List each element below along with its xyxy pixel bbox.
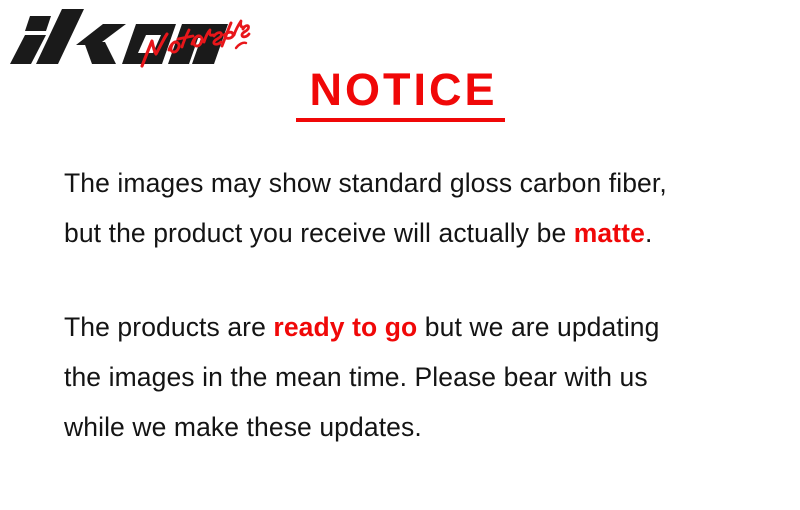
paragraph-2-line-1-text-before: The products are bbox=[64, 312, 273, 342]
paragraph-1-line-2-text-before: but the product you receive will actuall… bbox=[64, 218, 574, 248]
notice-paragraph-1: The images may show standard gloss carbo… bbox=[64, 158, 764, 258]
paragraph-2-line-1: The products are ready to go but we are … bbox=[64, 302, 764, 352]
notice-title: NOTICE bbox=[296, 64, 508, 116]
notice-body: The images may show standard gloss carbo… bbox=[64, 158, 764, 452]
paragraph-1-line-1: The images may show standard gloss carbo… bbox=[64, 158, 764, 208]
paragraph-2-line-2: the images in the mean time. Please bear… bbox=[64, 352, 764, 402]
ikon-motorsports-logo bbox=[6, 2, 252, 74]
paragraph-1-line-2-text-after: . bbox=[645, 218, 652, 248]
paragraph-1-line-2: but the product you receive will actuall… bbox=[64, 208, 764, 258]
notice-paragraph-2: The products are ready to go but we are … bbox=[64, 302, 764, 452]
highlight-matte: matte bbox=[574, 218, 645, 248]
paragraph-2-line-1-text-after: but we are updating bbox=[417, 312, 659, 342]
brand-logo bbox=[6, 2, 252, 74]
paragraph-2-line-3: while we make these updates. bbox=[64, 402, 764, 452]
notice-underline-rule bbox=[296, 118, 505, 122]
highlight-ready-to-go: ready to go bbox=[273, 312, 417, 342]
notice-header: NOTICE bbox=[296, 64, 508, 122]
